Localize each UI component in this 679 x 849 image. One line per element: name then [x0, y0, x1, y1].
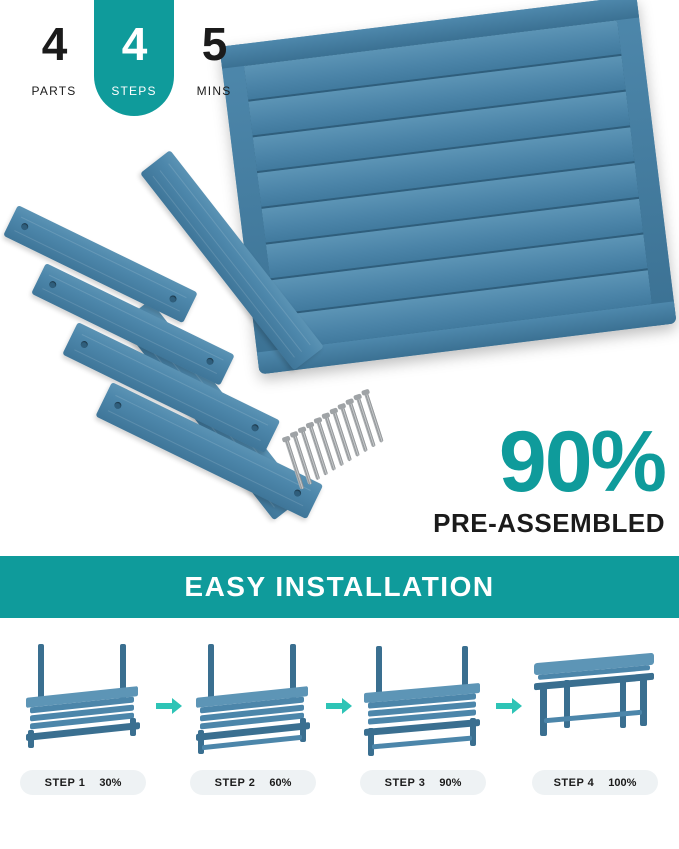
stat-parts-number: 4 [14, 18, 94, 70]
step-4: STEP 4 100% [520, 630, 670, 810]
step-1-name: STEP 1 [45, 777, 86, 789]
step-4-pill: STEP 4 100% [532, 770, 658, 795]
step-2: STEP 2 60% [178, 630, 328, 810]
step-1-value: 30% [99, 777, 121, 789]
stat-steps: 4 STEPS [94, 0, 174, 116]
pre-assembled-percent: 90% [365, 418, 665, 506]
pre-assembled-callout: 90% PRE-ASSEMBLED [365, 418, 665, 539]
step-4-illustration [520, 640, 670, 760]
step-1-pill: STEP 1 30% [20, 770, 146, 795]
step-4-name: STEP 4 [554, 777, 595, 789]
step-1: STEP 1 30% [8, 630, 158, 810]
stats-row: 4 PARTS 4 STEPS 5 MINS [14, 8, 254, 116]
stat-mins-label: MINS [174, 84, 254, 98]
step-3-illustration [348, 640, 498, 760]
step-3-pill: STEP 3 90% [360, 770, 486, 795]
step-1-illustration [8, 640, 158, 760]
pre-assembled-caption: PRE-ASSEMBLED [365, 508, 665, 539]
tabletop-slats [244, 20, 652, 350]
step-2-pill: STEP 2 60% [190, 770, 316, 795]
stat-parts-label: PARTS [14, 84, 94, 98]
step-2-name: STEP 2 [215, 777, 256, 789]
stat-mins: 5 MINS [174, 8, 254, 98]
step-3: STEP 3 90% [348, 630, 498, 810]
stat-steps-number: 4 [94, 18, 174, 70]
steps-row: STEP 1 30% STEP 2 60% [0, 630, 679, 820]
step-3-name: STEP 3 [385, 777, 426, 789]
stat-parts: 4 PARTS [14, 8, 94, 98]
step-3-value: 90% [439, 777, 461, 789]
step-2-illustration [178, 640, 328, 760]
stat-mins-number: 5 [174, 18, 254, 70]
stat-steps-label: STEPS [94, 84, 174, 98]
step-2-value: 60% [269, 777, 291, 789]
easy-installation-banner: EASY INSTALLATION [0, 556, 679, 618]
easy-installation-text: EASY INSTALLATION [184, 571, 494, 603]
step-arrow-3-icon [496, 698, 522, 714]
step-4-value: 100% [608, 777, 636, 789]
